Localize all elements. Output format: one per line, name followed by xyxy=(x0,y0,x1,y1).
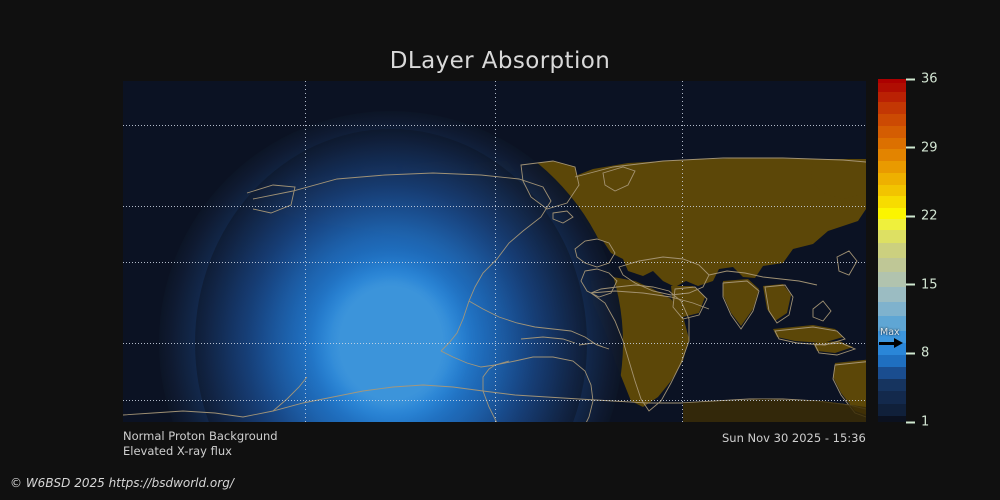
colorbar-band xyxy=(878,367,906,379)
colorbar-band xyxy=(878,83,906,92)
tick-dash xyxy=(906,147,915,149)
colorbar-band xyxy=(878,272,906,287)
colorbar-band xyxy=(878,149,906,161)
colorbar-band xyxy=(878,391,906,404)
tick-label: 36 xyxy=(921,72,938,87)
tick-dash xyxy=(906,78,915,80)
colorbar-band xyxy=(878,219,906,230)
caption-xray-flux: Elevated X-ray flux xyxy=(123,444,278,459)
colorbar-band xyxy=(878,258,906,273)
caption-proton-background: Normal Proton Background xyxy=(123,429,278,444)
colorbar-band xyxy=(878,208,906,219)
tick-label: 8 xyxy=(921,346,929,361)
colorbar-band xyxy=(878,230,906,243)
colorbar-band xyxy=(878,316,906,330)
map-canvas xyxy=(123,81,866,422)
colorbar-band xyxy=(878,126,906,138)
colorbar-tick: 29 xyxy=(906,140,938,155)
colorbar-title: Affected Frequency (MHz) xyxy=(938,79,1000,422)
tick-label: 15 xyxy=(921,277,938,292)
tick-dash xyxy=(906,215,915,217)
colorbar-band xyxy=(878,196,906,208)
timestamp: Sun Nov 30 2025 - 15:36 xyxy=(722,431,866,445)
tick-label: 1 xyxy=(921,415,929,430)
colorbar-band xyxy=(878,302,906,317)
colorbar-band xyxy=(878,343,906,355)
colorbar-band xyxy=(878,379,906,391)
tick-dash xyxy=(906,352,915,354)
tick-dash xyxy=(906,284,915,286)
colorbar-tick: 8 xyxy=(906,346,929,361)
colorbar-band xyxy=(878,138,906,150)
colorbar-band xyxy=(878,416,906,422)
tick-dash xyxy=(906,421,915,423)
dlayer-absorption-page: DLayer Absorption xyxy=(0,0,1000,500)
colorbar-band xyxy=(878,355,906,367)
world-map[interactable] xyxy=(123,81,866,422)
tick-label: 22 xyxy=(921,209,938,224)
colorbar-band xyxy=(878,404,906,416)
status-captions: Normal Proton Background Elevated X-ray … xyxy=(123,429,278,459)
colorbar-band xyxy=(878,173,906,185)
colorbar-band xyxy=(878,243,906,258)
colorbar-tick: 15 xyxy=(906,277,938,292)
colorbar-band xyxy=(878,161,906,173)
colorbar-tick: 36 xyxy=(906,72,938,87)
colorbar-band xyxy=(878,185,906,197)
page-title: DLayer Absorption xyxy=(0,48,1000,74)
colorbar-band xyxy=(878,114,906,126)
colorbar-band xyxy=(878,102,906,114)
colorbar-band xyxy=(878,287,906,302)
colorbar-tick: 1 xyxy=(906,415,929,430)
colorbar-band xyxy=(878,331,906,344)
colorbar[interactable] xyxy=(878,79,906,422)
colorbar-tick: 22 xyxy=(906,209,938,224)
footer-copyright: © W6BSD 2025 https://bsdworld.org/ xyxy=(10,476,234,490)
tick-label: 29 xyxy=(921,140,938,155)
colorbar-band xyxy=(878,92,906,103)
